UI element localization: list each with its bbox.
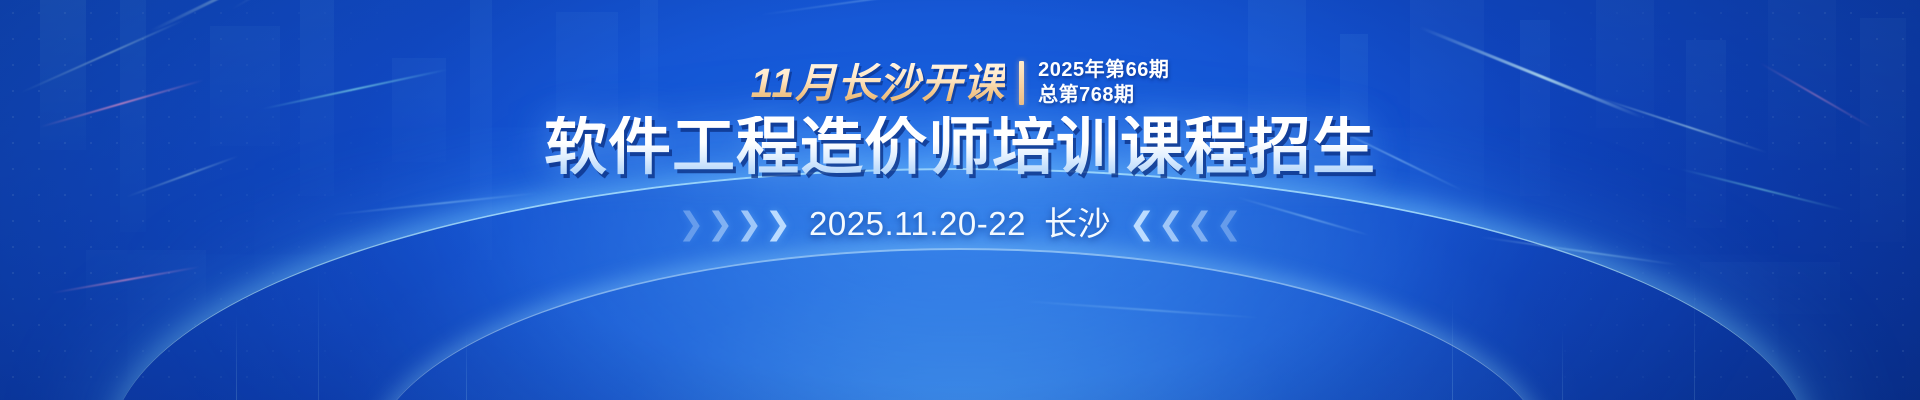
chevron-left-icon: ❮ bbox=[1216, 208, 1242, 239]
session-total-line: 总第768期 bbox=[1038, 84, 1169, 107]
kicker-divider bbox=[1019, 61, 1024, 105]
chevron-left-icon: ❮ bbox=[1158, 208, 1184, 239]
session-info: 2025年第66期 总第768期 bbox=[1038, 59, 1169, 107]
event-date-location: 2025.11.20-22 长沙 bbox=[809, 207, 1111, 240]
date-row: ❯ ❯ ❯ ❯ 2025.11.20-22 长沙 ❮ ❮ ❮ ❮ bbox=[678, 207, 1242, 240]
chevron-left-icon: ❮ bbox=[1187, 208, 1213, 239]
event-date-range: 2025.11.20-22 bbox=[809, 207, 1026, 240]
chevrons-left-pointing: ❮ ❮ ❮ ❮ bbox=[1129, 208, 1242, 239]
chevron-right-icon: ❯ bbox=[736, 208, 762, 239]
chevrons-right-pointing: ❯ ❯ ❯ ❯ bbox=[678, 208, 791, 239]
chevron-left-icon: ❮ bbox=[1129, 208, 1155, 239]
kicker-row: 11月长沙开课 2025年第66期 总第768期 bbox=[751, 56, 1170, 110]
event-city: 长沙 bbox=[1044, 207, 1111, 240]
banner-content: 11月长沙开课 2025年第66期 总第768期 软件工程造价师培训课程招生 ❯… bbox=[0, 0, 1920, 400]
session-year-line: 2025年第66期 bbox=[1038, 59, 1169, 82]
chevron-right-icon: ❯ bbox=[765, 208, 791, 239]
kicker-text: 11月长沙开课 bbox=[751, 63, 1006, 104]
chevron-right-icon: ❯ bbox=[707, 208, 733, 239]
page-title: 软件工程造价师培训课程招生 bbox=[544, 116, 1376, 179]
chevron-right-icon: ❯ bbox=[678, 208, 704, 239]
course-promo-banner: 11月长沙开课 2025年第66期 总第768期 软件工程造价师培训课程招生 ❯… bbox=[0, 0, 1920, 400]
